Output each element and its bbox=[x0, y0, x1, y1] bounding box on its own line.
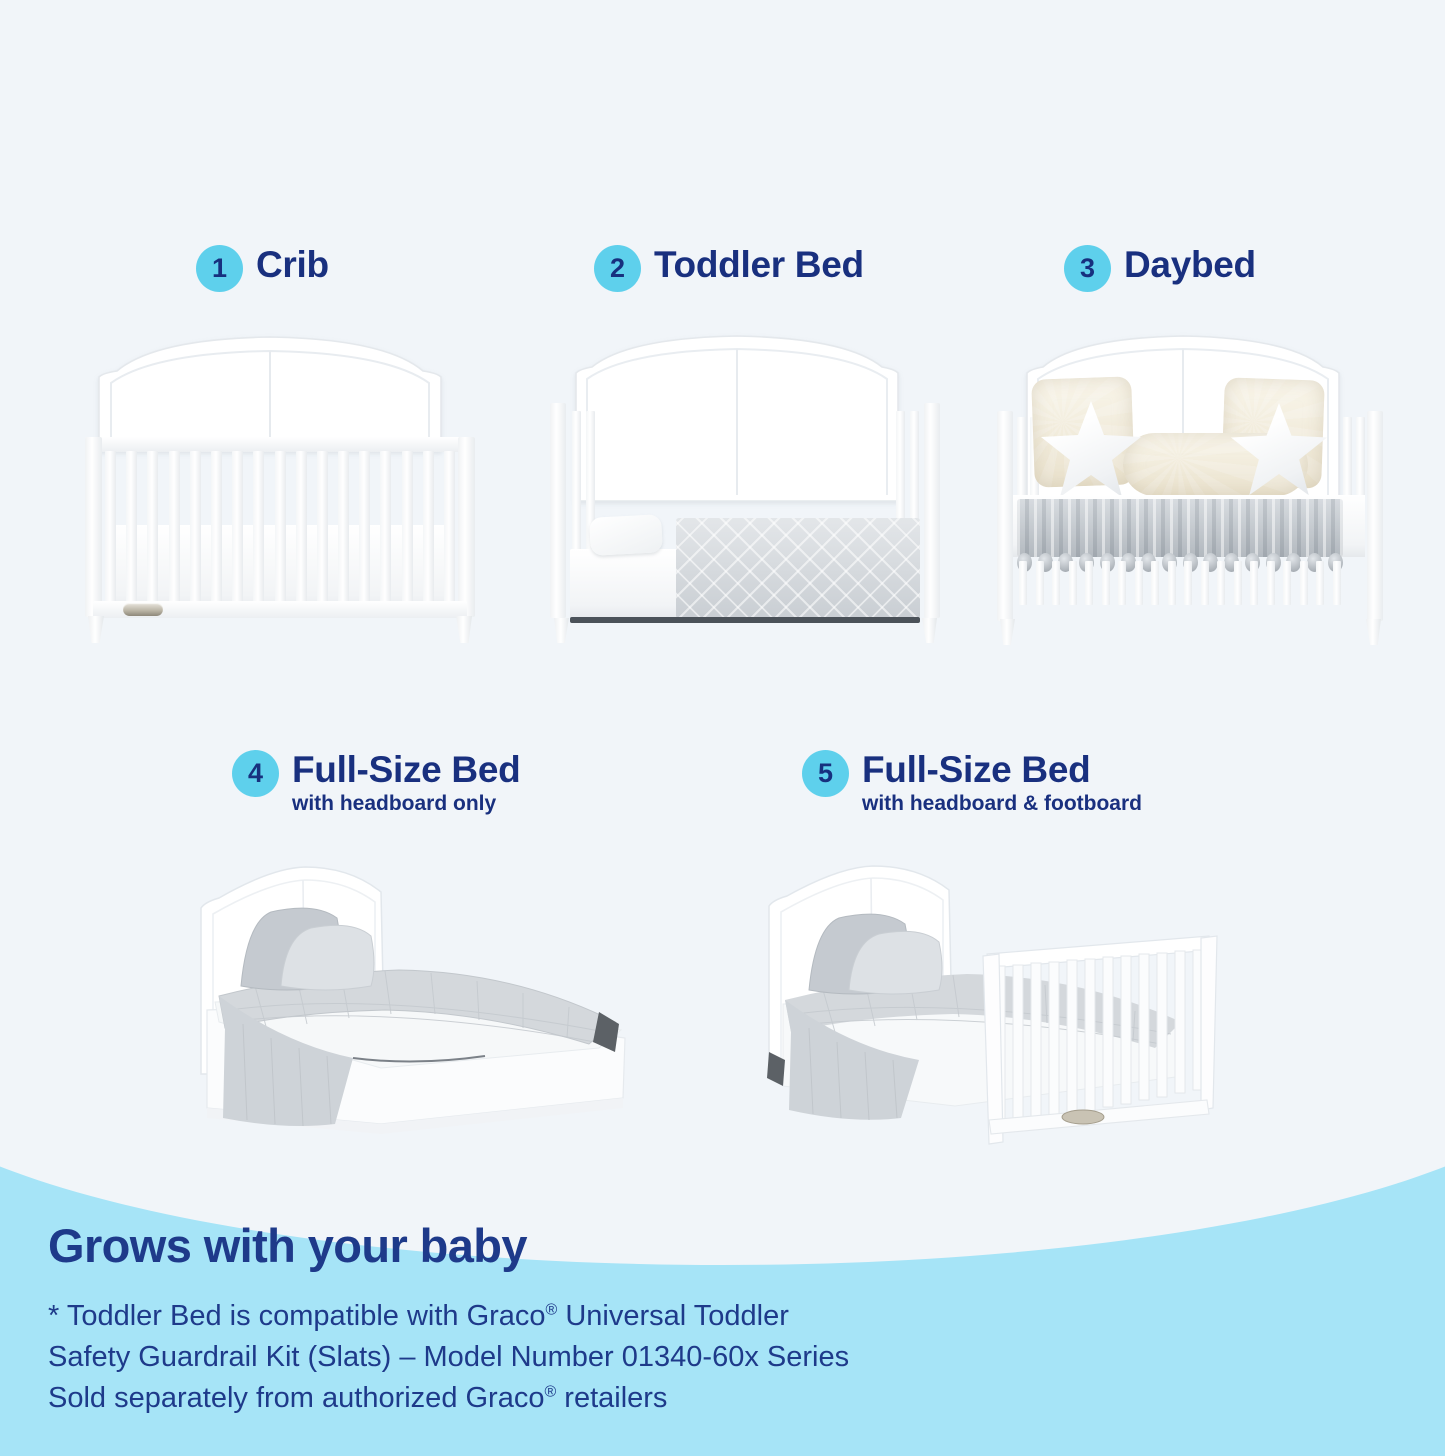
footer-heading: Grows with your baby bbox=[48, 1222, 849, 1269]
step-label-4: 4 Full-Size Bed with headboard only bbox=[232, 750, 520, 815]
product-image-crib bbox=[85, 333, 475, 643]
step-label-texts-3: Daybed bbox=[1124, 245, 1256, 284]
toddler-post-right bbox=[924, 403, 940, 618]
toddler-sheet bbox=[570, 549, 680, 619]
step-title-5: Full-Size Bed bbox=[862, 751, 1142, 789]
step-badge-3: 3 bbox=[1064, 245, 1111, 292]
step-label-texts-4: Full-Size Bed with headboard only bbox=[292, 750, 520, 815]
registered-mark-2: ® bbox=[544, 1384, 556, 1401]
step-label-5: 5 Full-Size Bed with headboard & footboa… bbox=[802, 750, 1142, 815]
registered-mark-1: ® bbox=[546, 1301, 558, 1318]
step-title-2: Toddler Bed bbox=[654, 246, 864, 284]
step-title-1: Crib bbox=[256, 246, 329, 284]
step-title-4: Full-Size Bed bbox=[292, 751, 520, 789]
footer-line-2: Safety Guardrail Kit (Slats) – Model Num… bbox=[48, 1337, 849, 1378]
toddler-leg-left bbox=[554, 618, 569, 643]
step-subtitle-4: with headboard only bbox=[292, 792, 520, 816]
toddler-leg-right bbox=[922, 618, 937, 643]
product-image-toddler-bed bbox=[550, 333, 940, 643]
full-bed-4-render bbox=[185, 862, 655, 1157]
daybed-lower-slat-group bbox=[1019, 561, 1341, 605]
crib-post-right bbox=[458, 437, 475, 617]
infographic-page: 1 Crib 2 Toddler Bed 3 Daybed 4 Full-Siz… bbox=[0, 0, 1445, 1456]
daybed-knit-blanket bbox=[1017, 499, 1343, 557]
daybed-post-left bbox=[997, 411, 1013, 621]
footer-line-1-text-b: Universal Toddler bbox=[557, 1300, 789, 1332]
product-image-full-bed-headboard bbox=[185, 862, 655, 1157]
crib-headboard bbox=[95, 333, 445, 453]
toddler-bed-base bbox=[570, 617, 920, 623]
daybed-leg-left bbox=[1000, 619, 1015, 645]
step-label-texts-1: Crib bbox=[256, 245, 329, 284]
footer-line-1-text-a: * Toddler Bed is compatible with Graco bbox=[48, 1300, 546, 1332]
step-title-3: Daybed bbox=[1124, 246, 1256, 284]
step-badge-5: 5 bbox=[802, 750, 849, 797]
step-subtitle-5: with headboard & footboard bbox=[862, 792, 1142, 816]
product-image-full-bed-headboard-footboard bbox=[755, 862, 1225, 1162]
step-badge-2: 2 bbox=[594, 245, 641, 292]
footer-block: Grows with your baby * Toddler Bed is co… bbox=[48, 1222, 849, 1420]
step-label-2: 2 Toddler Bed bbox=[594, 245, 864, 292]
toddler-pillow bbox=[589, 514, 663, 556]
toddler-quilt bbox=[676, 518, 920, 619]
product-image-daybed bbox=[995, 333, 1385, 643]
toddler-side-slat-l1 bbox=[572, 411, 581, 556]
toddler-headboard bbox=[572, 333, 902, 503]
crib-post-left bbox=[85, 437, 102, 617]
step-badge-1: 1 bbox=[196, 245, 243, 292]
step-label-1: 1 Crib bbox=[196, 245, 329, 292]
step-label-3: 3 Daybed bbox=[1064, 245, 1256, 292]
daybed-post-right bbox=[1367, 411, 1383, 621]
footer-line-1: * Toddler Bed is compatible with Graco® … bbox=[48, 1296, 849, 1337]
toddler-post-left bbox=[550, 403, 566, 618]
crib-top-rail bbox=[85, 437, 475, 452]
daybed-leg-right bbox=[1366, 619, 1381, 645]
step-label-texts-5: Full-Size Bed with headboard & footboard bbox=[862, 750, 1142, 815]
crib-leg-left bbox=[88, 616, 104, 643]
step-badge-4: 4 bbox=[232, 750, 279, 797]
footer-line-3-text-b: retailers bbox=[556, 1382, 667, 1414]
graco-logo-plate bbox=[123, 603, 163, 616]
step-label-texts-2: Toddler Bed bbox=[654, 245, 864, 284]
crib-leg-right bbox=[456, 616, 472, 643]
footer-line-3-text-a: Sold separately from authorized Graco bbox=[48, 1382, 544, 1414]
full-bed-5-render bbox=[755, 862, 1225, 1162]
footer-line-3: Sold separately from authorized Graco® r… bbox=[48, 1378, 849, 1419]
crib-slat-group bbox=[105, 451, 455, 613]
